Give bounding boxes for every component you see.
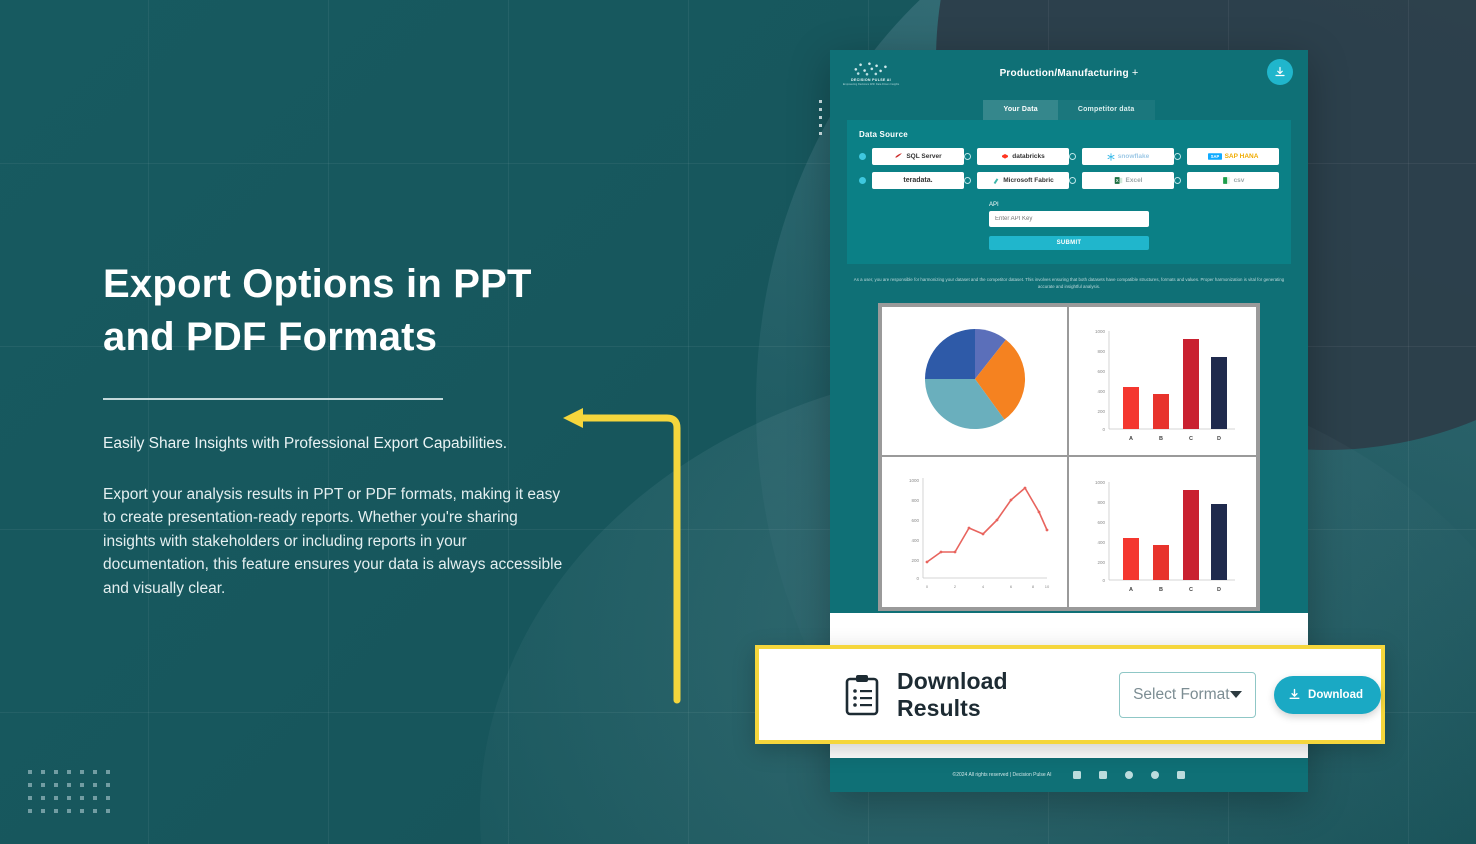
radio-icon[interactable] — [964, 153, 971, 160]
svg-text:D: D — [1217, 587, 1221, 593]
svg-text:C: C — [1189, 587, 1193, 593]
bar-chart-svg: 1000 800 600 400 200 0 — [1083, 313, 1243, 449]
svg-text:400: 400 — [911, 538, 919, 543]
svg-text:0: 0 — [1102, 578, 1105, 583]
svg-text:0: 0 — [925, 584, 928, 589]
data-source-row: SQL Server databricks — [859, 148, 1279, 165]
svg-text:B: B — [1159, 436, 1163, 442]
headline-line-2: and PDF Formats — [103, 315, 437, 359]
data-source-wrapper: Data Source SQL Server — [830, 120, 1308, 264]
slide-root: Export Options in PPT and PDF Formats Ea… — [0, 0, 1476, 844]
data-source-option-databricks[interactable]: databricks — [964, 148, 1069, 165]
format-select-value: Select Format — [1133, 686, 1229, 704]
radio-icon[interactable] — [859, 153, 866, 160]
svg-text:8: 8 — [1031, 584, 1034, 589]
svg-text:600: 600 — [1097, 369, 1105, 374]
data-source-option-snowflake[interactable]: snowflake — [1069, 148, 1174, 165]
api-block: API SUBMIT — [859, 196, 1279, 252]
radio-icon[interactable] — [964, 177, 971, 184]
youtube-icon[interactable] — [1099, 771, 1107, 779]
svg-text:SAP: SAP — [1210, 154, 1219, 159]
social-links — [1073, 771, 1185, 779]
svg-text:1000: 1000 — [1094, 480, 1105, 485]
app-page-title: Production/Manufacturing+ — [830, 67, 1308, 79]
clipboard-list-icon — [845, 674, 879, 716]
harmonization-disclaimer: As a user, you are responsible for harmo… — [830, 264, 1308, 303]
linkedin-icon[interactable] — [1073, 771, 1081, 779]
app-footer: ©2024 All rights reserved | Decision Pul… — [830, 758, 1308, 792]
radio-icon[interactable] — [1174, 153, 1181, 160]
svg-text:4: 4 — [981, 584, 984, 589]
svg-text:2: 2 — [953, 584, 956, 589]
svg-text:800: 800 — [911, 498, 919, 503]
api-label: API — [989, 202, 1149, 208]
excel-icon: X — [1114, 176, 1123, 185]
radio-icon[interactable] — [1174, 177, 1181, 184]
chip-databricks: databricks — [977, 148, 1069, 165]
svg-text:800: 800 — [1097, 500, 1105, 505]
saphana-icon: SAP — [1208, 153, 1222, 160]
lead-paragraph: Easily Share Insights with Professional … — [103, 432, 623, 455]
svg-text:0: 0 — [916, 576, 919, 581]
tab-competitor-data[interactable]: Competitor data — [1058, 100, 1155, 120]
tab-your-data[interactable]: Your Data — [983, 100, 1057, 120]
chip-sqlserver: SQL Server — [872, 148, 964, 165]
data-source-option-sqlserver[interactable]: SQL Server — [859, 148, 964, 165]
radio-icon[interactable] — [1069, 177, 1076, 184]
svg-text:200: 200 — [1097, 560, 1105, 565]
download-button-label: Download — [1308, 689, 1363, 701]
line-chart-svg: 1000 800 600 400 200 0 — [895, 464, 1055, 600]
csv-icon — [1222, 176, 1231, 185]
twitter-icon[interactable] — [1125, 771, 1133, 779]
data-source-title: Data Source — [859, 130, 1279, 139]
svg-text:400: 400 — [1097, 540, 1105, 545]
chip-label: csv — [1234, 177, 1245, 184]
chip-excel: X Excel — [1082, 172, 1174, 189]
data-source-option-saphana[interactable]: SAP SAP HANA — [1174, 148, 1279, 165]
submit-button[interactable]: SUBMIT — [989, 236, 1149, 250]
logo-tagline: Empowering Decisions With Data Driven In… — [843, 83, 899, 86]
svg-text:6: 6 — [1009, 584, 1012, 589]
charts-band: 1000 800 600 400 200 0 — [830, 303, 1308, 613]
svg-text:0: 0 — [1102, 427, 1105, 432]
bar-chart-svg-2: 1000 800 600 400 200 0 — [1083, 464, 1243, 600]
svg-text:600: 600 — [1097, 520, 1105, 525]
text-column: Export Options in PPT and PDF Formats Ea… — [103, 258, 623, 601]
svg-text:X: X — [1115, 178, 1118, 183]
svg-text:1000: 1000 — [908, 478, 919, 483]
header-download-button[interactable] — [1267, 59, 1293, 85]
data-source-option-teradata[interactable]: teradata. — [859, 172, 964, 189]
snowflake-icon — [1107, 153, 1115, 161]
logo-wordmark: DECISION PULSE AI — [851, 78, 891, 82]
chip-saphana: SAP SAP HANA — [1187, 148, 1279, 165]
svg-text:200: 200 — [1097, 409, 1105, 414]
data-source-panel: Data Source SQL Server — [847, 120, 1291, 264]
svg-text:1000: 1000 — [1094, 329, 1105, 334]
decorative-vertical-dots — [819, 100, 822, 135]
chip-fabric: Microsoft Fabric — [977, 172, 1069, 189]
download-button[interactable]: Download — [1274, 676, 1381, 714]
api-input[interactable] — [989, 211, 1149, 227]
download-icon — [1288, 688, 1301, 701]
chip-label: SAP HANA — [1225, 153, 1259, 160]
app-page-title-text: Production/Manufacturing — [1000, 68, 1129, 79]
chart-line[interactable]: 1000 800 600 400 200 0 — [882, 457, 1069, 607]
pie-chart-svg — [900, 313, 1050, 449]
download-results-title: Download Results — [897, 668, 1089, 722]
radio-icon[interactable] — [1069, 153, 1076, 160]
svg-text:D: D — [1217, 436, 1221, 442]
svg-text:A: A — [1129, 587, 1133, 593]
download-results-panel: Download Results Select Format Download — [755, 645, 1385, 744]
fabric-icon — [992, 177, 1000, 185]
data-source-option-csv[interactable]: csv — [1174, 172, 1279, 189]
data-source-row: teradata. Microsoft Fabric — [859, 172, 1279, 189]
facebook-icon[interactable] — [1151, 771, 1159, 779]
add-icon[interactable]: + — [1132, 67, 1139, 79]
chart-pie[interactable] — [882, 307, 1069, 457]
decorative-dot-grid — [28, 770, 119, 822]
chip-label: Excel — [1126, 177, 1143, 184]
download-icon — [1274, 66, 1286, 78]
brain-network-icon — [851, 60, 891, 77]
app-top-section: DECISION PULSE AI Empowering Decisions W… — [830, 50, 1308, 613]
chip-csv: csv — [1187, 172, 1279, 189]
sqlserver-icon — [894, 152, 903, 161]
data-tabs: Your Data Competitor data — [830, 96, 1308, 120]
chip-label: snowflake — [1118, 153, 1149, 160]
svg-text:A: A — [1129, 436, 1133, 442]
chart-bar-top[interactable]: 1000 800 600 400 200 0 — [1069, 307, 1256, 457]
chevron-down-icon — [1230, 691, 1242, 698]
chip-snowflake: snowflake — [1082, 148, 1174, 165]
headline-line-1: Export Options in PPT — [103, 262, 532, 306]
instagram-icon[interactable] — [1177, 771, 1185, 779]
svg-text:C: C — [1189, 436, 1193, 442]
chip-label: Microsoft Fabric — [1003, 177, 1054, 184]
chip-label: teradata. — [903, 177, 932, 184]
chip-label: databricks — [1012, 153, 1045, 160]
svg-text:B: B — [1159, 587, 1163, 593]
charts-frame: 1000 800 600 400 200 0 — [878, 303, 1260, 611]
app-logo[interactable]: DECISION PULSE AI Empowering Decisions W… — [844, 58, 898, 88]
svg-text:400: 400 — [1097, 389, 1105, 394]
chart-bar-bottom[interactable]: 1000 800 600 400 200 0 — [1069, 457, 1256, 607]
title-divider — [103, 398, 443, 400]
svg-text:600: 600 — [911, 518, 919, 523]
chip-label: SQL Server — [906, 153, 941, 160]
chip-teradata: teradata. — [872, 172, 964, 189]
databricks-icon — [1001, 153, 1009, 161]
app-header: DECISION PULSE AI Empowering Decisions W… — [830, 50, 1308, 96]
svg-text:10: 10 — [1044, 584, 1049, 589]
svg-text:800: 800 — [1097, 349, 1105, 354]
data-source-option-excel[interactable]: X Excel — [1069, 172, 1174, 189]
svg-text:200: 200 — [911, 558, 919, 563]
body-paragraph: Export your analysis results in PPT or P… — [103, 483, 573, 601]
format-select[interactable]: Select Format — [1119, 672, 1256, 718]
copyright-text: ©2024 All rights reserved | Decision Pul… — [953, 772, 1052, 778]
page-title: Export Options in PPT and PDF Formats — [103, 258, 623, 364]
data-source-option-fabric[interactable]: Microsoft Fabric — [964, 172, 1069, 189]
radio-icon[interactable] — [859, 177, 866, 184]
